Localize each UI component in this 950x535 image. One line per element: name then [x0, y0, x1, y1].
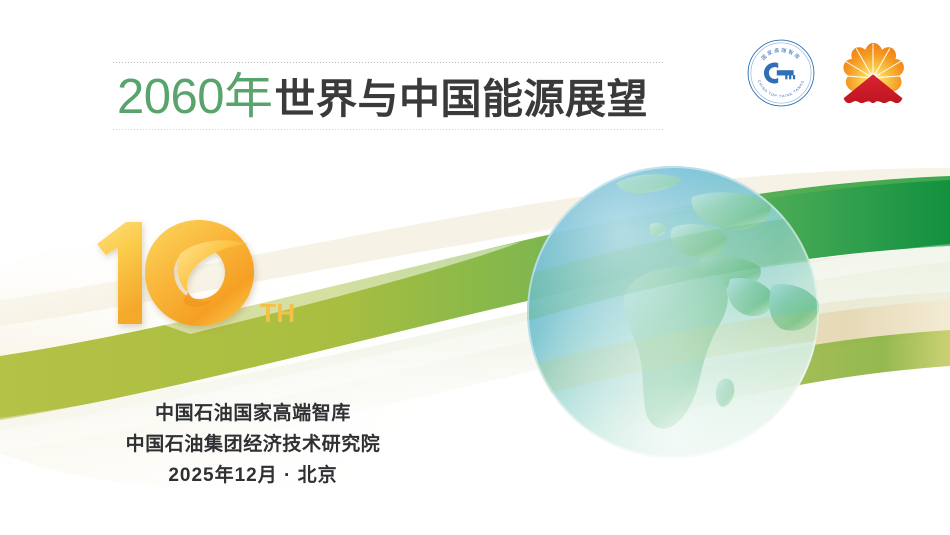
footer-text-block: 中国石油国家高端智库 中国石油集团经济技术研究院 2025年12月 · 北京 — [108, 398, 398, 491]
logo-row: 国家高端智库 CHINA TOP THINK TANKS — [746, 38, 908, 108]
cover-slide: 国家高端智库 CHINA TOP THINK TANKS — [0, 0, 950, 535]
cnpc-petrochina-logo — [838, 38, 908, 108]
anniversary-mark: TH — [84, 214, 314, 339]
footer-date-location: 2025年12月 · 北京 — [108, 460, 398, 491]
footer-organization-line-1: 中国石油国家高端智库 — [108, 398, 398, 429]
anniversary-suffix: TH — [260, 298, 296, 328]
page-title: 2060年 世界与中国能源展望 — [113, 63, 665, 129]
title-main: 世界与中国能源展望 — [275, 78, 649, 121]
title-year: 2060年 — [117, 72, 273, 123]
footer-organization-line-2: 中国石油集团经济技术研究院 — [108, 429, 398, 460]
title-rule-bottom — [113, 129, 665, 130]
china-top-think-tanks-logo: 国家高端智库 CHINA TOP THINK TANKS — [746, 38, 816, 108]
globe-graphic — [524, 163, 822, 461]
title-block: 2060年 世界与中国能源展望 — [113, 62, 665, 130]
title-rule-top — [113, 62, 665, 63]
